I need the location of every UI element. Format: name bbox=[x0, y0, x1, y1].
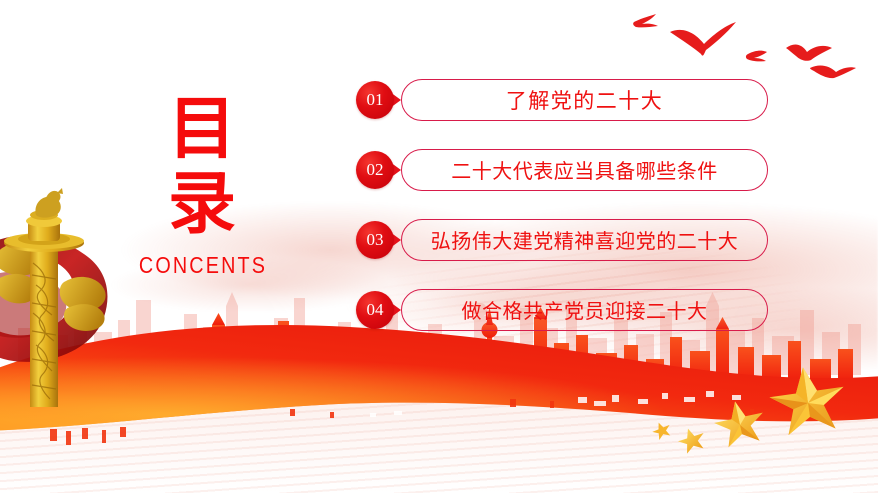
huabiao-pillar bbox=[0, 185, 120, 415]
toc-pill-01[interactable]: 了解党的二十大 bbox=[401, 79, 768, 121]
bird-4 bbox=[786, 45, 832, 61]
toc-item-02[interactable]: 02 二十大代表应当具备哪些条件 bbox=[356, 148, 768, 191]
bird-3 bbox=[746, 51, 767, 62]
toc-label-04: 做合格共产党员迎接二十大 bbox=[462, 295, 708, 324]
toc-number-badge-04: 04 bbox=[356, 291, 394, 329]
toc-number-03: 03 bbox=[367, 231, 384, 248]
bird-1 bbox=[633, 14, 658, 27]
page-title: 目 录 CONCENTS bbox=[118, 95, 288, 279]
table-of-contents: 01 了解党的二十大 02 二十大代表应当具备哪些条件 03 弘扬伟大建党精神喜… bbox=[356, 78, 768, 331]
toc-number-01: 01 bbox=[367, 91, 384, 108]
toc-number-badge-03: 03 bbox=[356, 221, 394, 259]
toc-label-01: 了解党的二十大 bbox=[506, 85, 664, 115]
toc-number-badge-01: 01 bbox=[356, 81, 394, 119]
title-char-mu: 目 bbox=[168, 91, 238, 167]
star-medium bbox=[711, 396, 769, 449]
title-char-lu: 录 bbox=[118, 170, 288, 239]
hou-beast bbox=[35, 188, 63, 218]
bird-5 bbox=[810, 65, 856, 78]
toc-number-04: 04 bbox=[367, 301, 384, 318]
toc-item-03[interactable]: 03 弘扬伟大建党精神喜迎党的二十大 bbox=[356, 218, 768, 261]
title-chinese: 目 录 bbox=[118, 95, 288, 240]
toc-label-02: 二十大代表应当具备哪些条件 bbox=[451, 155, 718, 184]
star-small-1 bbox=[675, 424, 708, 455]
slide-canvas: 目 录 CONCENTS 01 了解党的二十大 02 二十大代表应当具备哪些条件 bbox=[0, 0, 878, 493]
toc-number-badge-02: 02 bbox=[356, 151, 394, 189]
star-small-2 bbox=[650, 419, 673, 441]
toc-pill-04[interactable]: 做合格共产党员迎接二十大 bbox=[401, 289, 768, 331]
toc-item-04[interactable]: 04 做合格共产党员迎接二十大 bbox=[356, 288, 768, 331]
bird-2 bbox=[670, 22, 736, 56]
toc-pill-03[interactable]: 弘扬伟大建党精神喜迎党的二十大 bbox=[401, 219, 768, 261]
title-english: CONCENTS bbox=[130, 252, 276, 279]
gold-stars bbox=[648, 363, 878, 473]
toc-number-02: 02 bbox=[367, 161, 384, 178]
toc-item-01[interactable]: 01 了解党的二十大 bbox=[356, 78, 768, 121]
flying-birds bbox=[600, 0, 878, 90]
toc-label-03: 弘扬伟大建党精神喜迎党的二十大 bbox=[431, 225, 739, 254]
star-large bbox=[766, 363, 849, 437]
toc-pill-02[interactable]: 二十大代表应当具备哪些条件 bbox=[401, 149, 768, 191]
